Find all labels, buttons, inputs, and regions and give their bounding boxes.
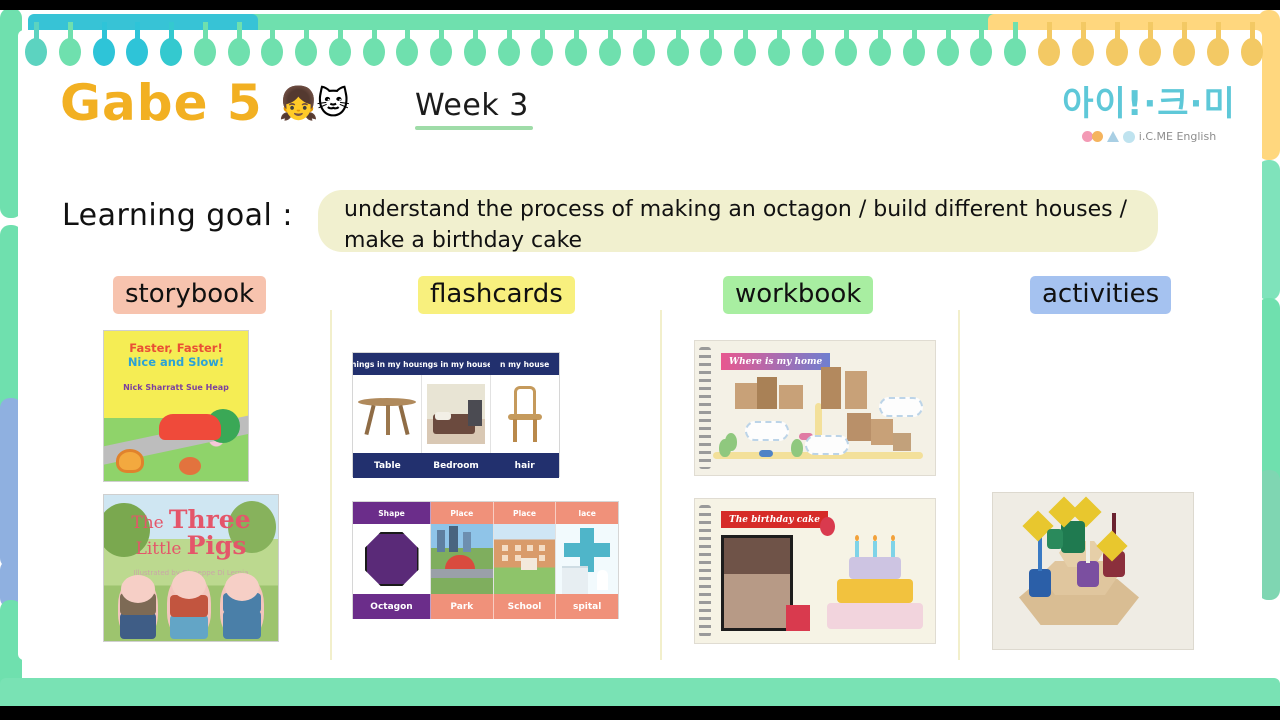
pin-decoration-4 — [125, 22, 149, 68]
workbook1-answer-box-1 — [745, 421, 789, 441]
flashcard-set-shape-place[interactable]: Shape Place Place lace — [352, 501, 619, 619]
slide-header: Gabe 5 👧🐱 Week 3 아이!·크·미 i.C.ME English — [0, 78, 1280, 156]
pig3-pants — [223, 611, 261, 639]
pin-decoration-25 — [834, 22, 858, 68]
pin-decoration-28 — [936, 22, 960, 68]
brand-logo: 아이!·크·미 i.C.ME English — [1054, 76, 1244, 143]
flashcard1-label-3: hair — [490, 453, 559, 478]
page-title: Gabe 5 — [60, 78, 263, 128]
logo-flask-icon — [1107, 131, 1119, 142]
workbook2-spiral-binding — [699, 505, 711, 637]
logo-ball-icon — [1092, 131, 1103, 142]
cake-tier-top — [849, 557, 901, 579]
learning-goal-text: understand the process of making an octa… — [344, 194, 1164, 256]
pin-decoration-9 — [294, 22, 318, 68]
pin-decoration-33 — [1105, 22, 1129, 68]
section-header-flashcards[interactable]: flashcards — [418, 276, 575, 314]
flashcard2-header-shape: Shape — [353, 502, 431, 524]
pin-decoration-19 — [632, 22, 656, 68]
workbook1-block-6 — [847, 413, 871, 441]
storybook-column: Faster, Faster! Nice and Slow! Nick Shar… — [103, 330, 279, 642]
book2-pig-1 — [118, 577, 158, 639]
flashcard1-header-3: n my house — [490, 353, 559, 375]
pin-decoration-6 — [193, 22, 217, 68]
workbook-photo-the-birthday-cake[interactable]: The birthday cake — [694, 498, 936, 644]
flashcard2-label-hospital: spital — [556, 594, 618, 619]
pin-decoration-2 — [58, 22, 82, 68]
logo-face-icon — [1123, 131, 1135, 143]
slide-root: Gabe 5 👧🐱 Week 3 아이!·크·미 i.C.ME English … — [0, 0, 1280, 720]
pig3-head — [225, 573, 259, 601]
book1-snail-1 — [116, 449, 144, 473]
cake-candle-1 — [855, 541, 859, 557]
cake-candle-3 — [891, 541, 895, 557]
pin-decoration-23 — [767, 22, 791, 68]
flashcard2-label-octagon: Octagon — [353, 594, 431, 619]
chair-illustration-icon — [508, 386, 542, 442]
workbook1-banner: Where is my home — [721, 353, 830, 370]
pin-decoration-7 — [227, 22, 251, 68]
workbook2-gift-box — [786, 605, 810, 631]
column-divider-1 — [330, 310, 332, 660]
pig2-head — [172, 571, 206, 599]
workbook2-banner: The birthday cake — [721, 511, 828, 528]
flashcard1-label-2: Bedroom — [422, 453, 491, 478]
pin-decoration-29 — [969, 22, 993, 68]
flashcard2-image-octagon — [353, 524, 431, 594]
flashcard2-image-row — [353, 524, 618, 594]
week-underline — [415, 126, 533, 130]
workbook2-painting-artwork — [724, 538, 790, 628]
workbook1-block-4 — [821, 367, 841, 409]
workbook-photo-where-is-my-home[interactable]: Where is my home — [694, 340, 936, 476]
column-divider-3 — [958, 310, 960, 660]
flashcard-set-things-in-my-house[interactable]: Things in my house ings in my house n my… — [352, 352, 560, 477]
workbook1-tree-3 — [791, 439, 803, 457]
workbook1-answer-box-3 — [879, 397, 923, 417]
pig2-pants — [170, 615, 208, 639]
flashcard1-image-row — [353, 375, 559, 453]
workbook1-spiral-binding — [699, 347, 711, 469]
pin-decoration-22 — [733, 22, 757, 68]
bedroom-photo-icon — [427, 384, 485, 444]
pin-decoration-20 — [666, 22, 690, 68]
pin-decoration-26 — [868, 22, 892, 68]
flashcard1-header-row: Things in my house ings in my house n my… — [353, 353, 559, 375]
book2-title-pigs: Pigs — [187, 531, 247, 560]
column-divider-2 — [660, 310, 662, 660]
pin-decoration-27 — [902, 22, 926, 68]
table-illustration-icon — [358, 392, 416, 436]
workbook-column: Where is my home The birthday cake — [694, 340, 936, 644]
workbook1-block-8 — [893, 433, 911, 451]
workbook1-tree-2 — [719, 439, 731, 457]
workbook1-block-3 — [779, 385, 803, 409]
flashcard2-image-school — [494, 524, 557, 594]
book1-title: Faster, Faster! Nice and Slow! — [104, 341, 248, 370]
section-headers: storybookflashcardsworkbookactivities — [0, 276, 1280, 316]
book1-snail-2 — [179, 457, 201, 475]
week-group: Week 3 — [415, 88, 533, 130]
flashcard2-image-park — [431, 524, 494, 594]
workbook1-block-5 — [845, 371, 867, 409]
pin-decoration-15 — [497, 22, 521, 68]
logo-subtitle-row: i.C.ME English — [1054, 130, 1244, 143]
cake-tier-bottom — [827, 603, 923, 629]
park-illustration-icon — [431, 524, 493, 594]
flashcard2-image-hospital — [556, 524, 618, 594]
pin-decoration-16 — [530, 22, 554, 68]
flashcard2-label-row: Octagon Park School spital — [353, 594, 618, 619]
flashcard2-label-park: Park — [431, 594, 494, 619]
pin-decoration-31 — [1037, 22, 1061, 68]
cake-tier-middle — [837, 579, 913, 603]
storybook-cover-three-little-pigs[interactable]: The Three Little Pigs Illustrated by Giu… — [103, 494, 279, 642]
section-header-workbook[interactable]: workbook — [723, 276, 873, 314]
pin-decoration-11 — [362, 22, 386, 68]
pin-decoration-34 — [1138, 22, 1162, 68]
letterbox-bottom — [0, 706, 1280, 720]
learning-goal-label: Learning goal : — [62, 198, 293, 233]
school-illustration-icon — [494, 524, 556, 594]
cake-flame-1 — [855, 535, 859, 541]
book2-title-three: Three — [169, 505, 251, 534]
book2-pig-2 — [167, 573, 211, 639]
flashcard2-label-school: School — [494, 594, 557, 619]
flashcard1-header-2: ings in my house — [422, 353, 491, 375]
character-faces-icon: 👧🐱 — [279, 87, 348, 119]
workbook1-answer-box-2 — [805, 435, 849, 455]
activity-photo-block-construction[interactable] — [992, 492, 1194, 650]
pin-decoration-24 — [801, 22, 825, 68]
section-header-storybook[interactable]: storybook — [113, 276, 266, 314]
book1-car — [159, 414, 221, 440]
book1-title-line1: Faster, Faster! — [104, 341, 248, 355]
cake-candle-2 — [873, 541, 877, 557]
flashcard1-image-chair — [491, 375, 559, 453]
title-group: Gabe 5 👧🐱 — [60, 78, 348, 128]
pig1-head — [121, 575, 155, 603]
pin-decoration-10 — [328, 22, 352, 68]
activity-peg-purple — [1077, 561, 1099, 587]
week-label: Week 3 — [415, 88, 533, 123]
flashcard2-header-row: Shape Place Place lace — [353, 502, 618, 524]
flashcards-column: Things in my house ings in my house n my… — [352, 352, 619, 619]
pin-decoration-17 — [564, 22, 588, 68]
workbook1-block-1 — [735, 383, 757, 409]
pin-decoration-12 — [395, 22, 419, 68]
workbook1-car-1 — [759, 450, 773, 457]
pin-decoration-5 — [159, 22, 183, 68]
activity-peg-green-2 — [1047, 529, 1063, 549]
pin-decoration-row — [24, 22, 1264, 68]
pin-decoration-18 — [598, 22, 622, 68]
section-header-activities[interactable]: activities — [1030, 276, 1171, 314]
cake-flame-2 — [873, 535, 877, 541]
flashcard1-image-table — [353, 375, 422, 453]
hospital-illustration-icon — [556, 524, 618, 594]
flashcard1-image-bedroom — [422, 375, 491, 453]
cake-flame-3 — [891, 535, 895, 541]
book2-title-the: The — [131, 513, 163, 533]
workbook2-balloon — [820, 517, 835, 536]
letterbox-top — [0, 0, 1280, 10]
workbook2-painting-image — [721, 535, 793, 631]
logo-subtitle: i.C.ME English — [1139, 130, 1216, 143]
pin-decoration-21 — [699, 22, 723, 68]
book2-title: The Three Little Pigs — [104, 507, 278, 560]
logo-korean-text: 아이!·크·미 — [1054, 76, 1244, 125]
pin-decoration-14 — [463, 22, 487, 68]
flashcard2-header-place-3: lace — [556, 502, 618, 524]
flashcard2-header-place-2: Place — [494, 502, 557, 524]
pin-decoration-35 — [1172, 22, 1196, 68]
pin-decoration-37 — [1240, 22, 1264, 68]
book2-pig-3 — [220, 575, 264, 639]
pin-decoration-30 — [1003, 22, 1027, 68]
pin-decoration-3 — [92, 22, 116, 68]
activities-column — [992, 492, 1194, 650]
book1-title-line2: Nice and Slow! — [104, 355, 248, 369]
octagon-shape-icon — [365, 532, 419, 586]
book1-authors: Nick Sharratt Sue Heap — [104, 383, 248, 392]
workbook2-birthday-cake — [827, 543, 923, 629]
flashcard2-header-place-1: Place — [431, 502, 494, 524]
workbook1-block-7 — [871, 419, 893, 445]
pin-decoration-1 — [24, 22, 48, 68]
pig1-pants — [120, 613, 156, 639]
workbook1-block-2 — [757, 377, 777, 409]
pin-decoration-32 — [1071, 22, 1095, 68]
pin-decoration-36 — [1206, 22, 1230, 68]
book2-title-little: Little — [136, 539, 182, 559]
flashcard1-header-1: Things in my house — [353, 353, 422, 375]
pin-decoration-13 — [429, 22, 453, 68]
activity-peg-blue — [1029, 569, 1051, 597]
pin-decoration-8 — [260, 22, 284, 68]
storybook-cover-faster-faster[interactable]: Faster, Faster! Nice and Slow! Nick Shar… — [103, 330, 249, 482]
flashcard1-label-row: Table Bedroom hair — [353, 453, 559, 478]
flashcard1-label-1: Table — [353, 453, 422, 478]
learning-goal-row: Learning goal : understand the process o… — [0, 186, 1280, 258]
